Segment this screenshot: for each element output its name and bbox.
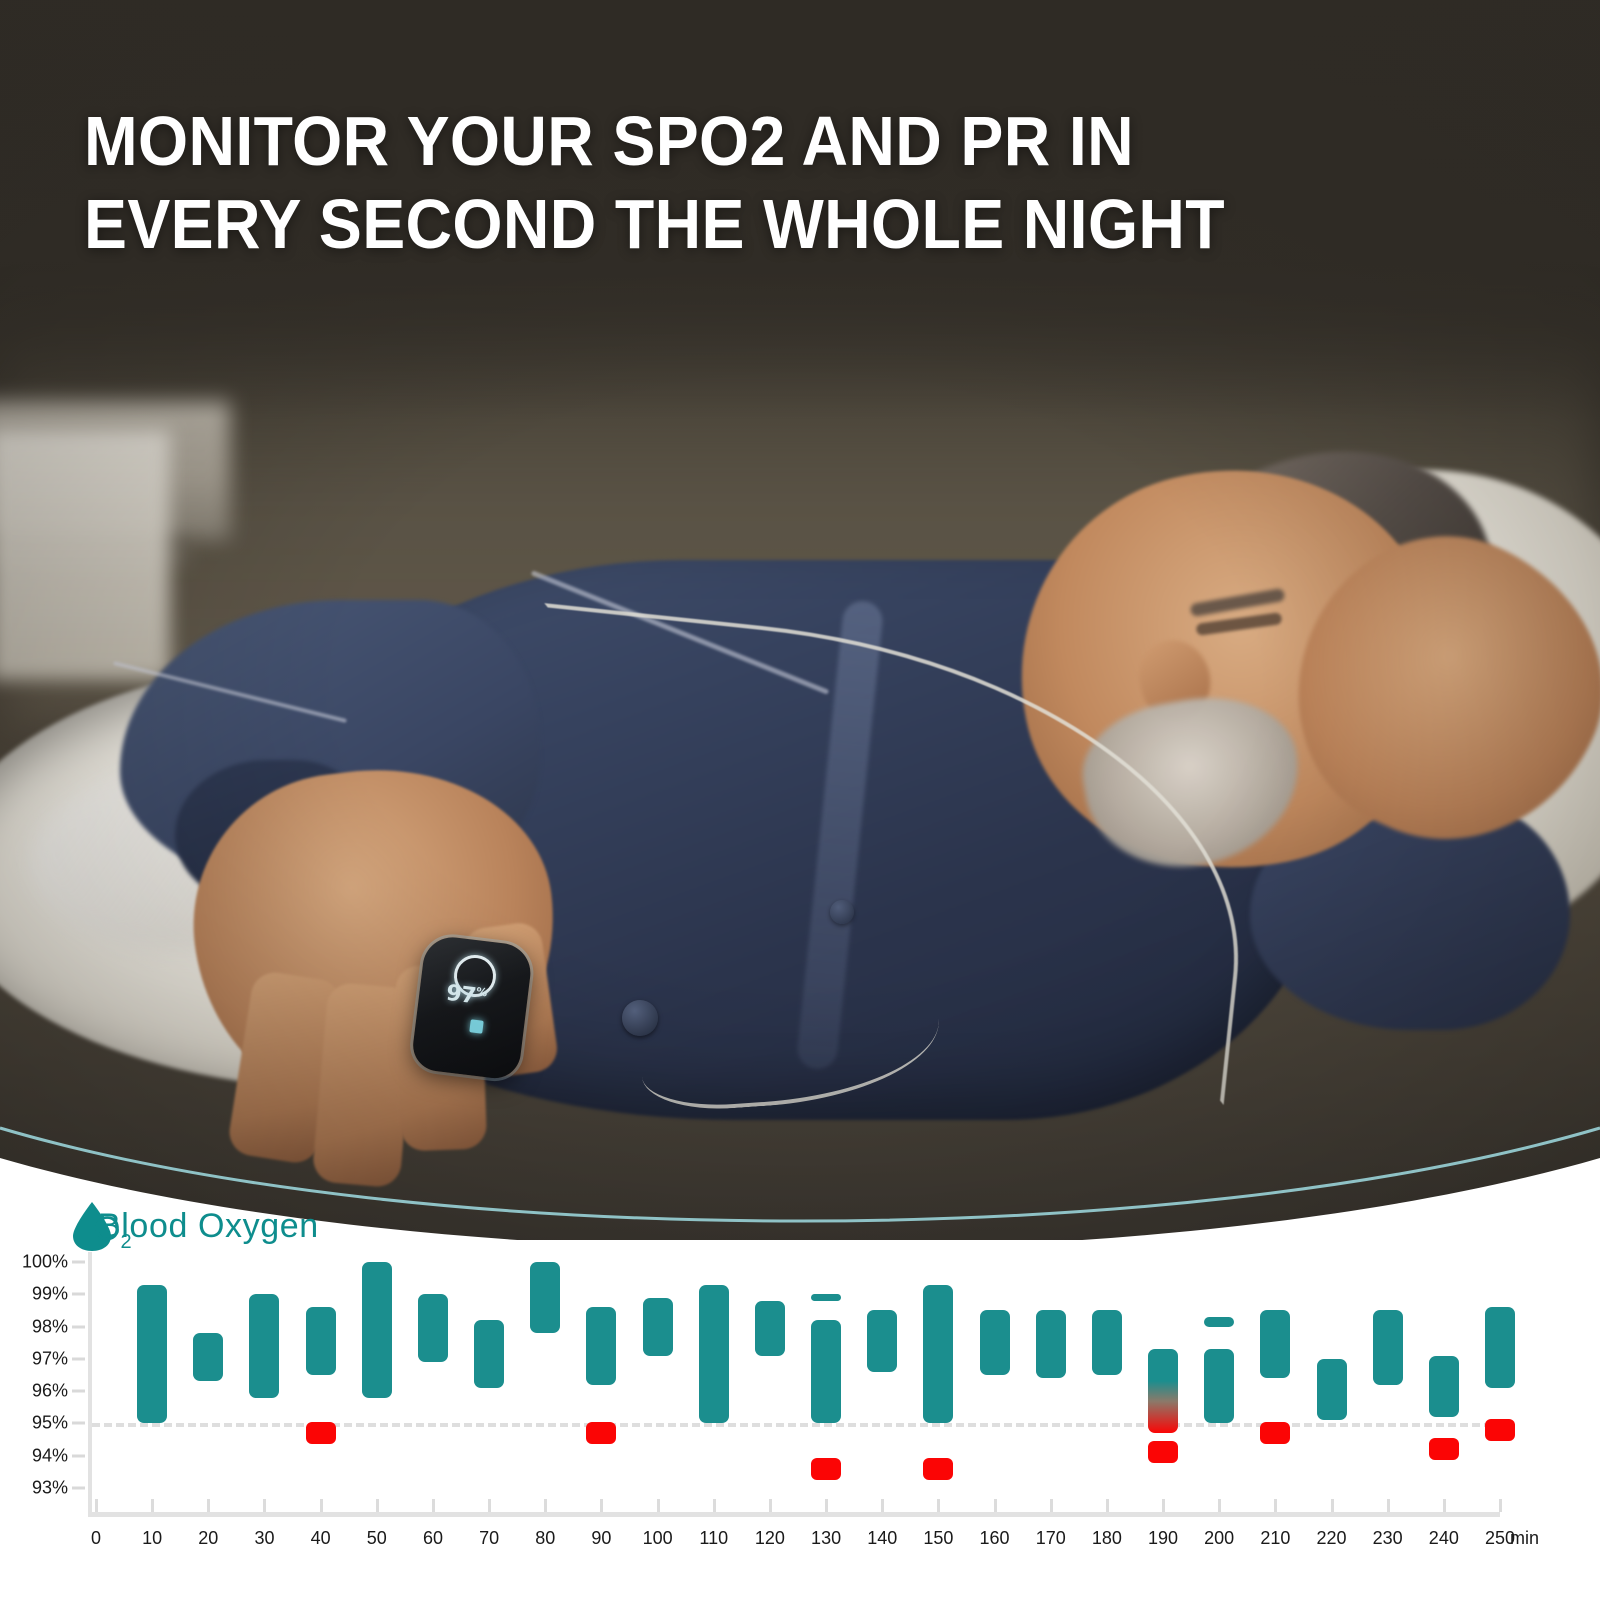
x-axis-tick-label: 210 (1260, 1528, 1290, 1549)
y-axis-tick (72, 1261, 85, 1264)
range-bar (418, 1294, 448, 1362)
x-axis-tick-label: 190 (1148, 1528, 1178, 1549)
x-axis-line (88, 1512, 1500, 1517)
x-axis-tick (1331, 1499, 1334, 1512)
x-axis-tick-label: 90 (591, 1528, 611, 1549)
x-axis-tick-label: 20 (198, 1528, 218, 1549)
x-axis-tick-label: 220 (1316, 1528, 1346, 1549)
x-axis-tick (1499, 1499, 1502, 1512)
range-bar (530, 1262, 560, 1333)
y-axis-tick (72, 1487, 85, 1490)
x-axis-tick (937, 1499, 940, 1512)
x-axis-tick (600, 1499, 603, 1512)
range-bar (137, 1285, 167, 1424)
alert-marker (1148, 1441, 1178, 1463)
x-axis-tick-label: 10 (142, 1528, 162, 1549)
x-axis-tick (1106, 1499, 1109, 1512)
y-axis-tick (72, 1454, 85, 1457)
x-axis-tick-label: 120 (755, 1528, 785, 1549)
range-bar (1148, 1349, 1178, 1433)
headline-line-1: MONITOR YOUR SPO2 AND PR IN (84, 100, 1243, 183)
range-bar (867, 1310, 897, 1371)
range-bar (811, 1320, 841, 1423)
y-axis-tick (72, 1293, 85, 1296)
range-bar (811, 1294, 841, 1300)
x-axis-tick (769, 1499, 772, 1512)
chart-title: O2 Blood Oxygen (70, 1200, 319, 1252)
y-axis-tick (72, 1357, 85, 1360)
range-bar (193, 1333, 223, 1381)
x-axis-tick (825, 1499, 828, 1512)
o2-subscript: 2 (120, 1231, 131, 1253)
x-axis-tick (1162, 1499, 1165, 1512)
x-axis-tick (544, 1499, 547, 1512)
y-axis-tick-label: 96% (32, 1381, 68, 1402)
range-bar (249, 1294, 279, 1397)
x-axis-tick-label: 30 (254, 1528, 274, 1549)
x-axis-tick (432, 1499, 435, 1512)
y-axis-tick-label: 93% (32, 1478, 68, 1499)
x-axis-tick-label: 70 (479, 1528, 499, 1549)
range-bar (643, 1298, 673, 1356)
headline-line-2: EVERY SECOND THE WHOLE NIGHT (84, 183, 1243, 266)
x-axis-tick-label: 100 (643, 1528, 673, 1549)
x-axis-tick (207, 1499, 210, 1512)
range-bar (1204, 1349, 1234, 1423)
x-axis-tick (95, 1499, 98, 1512)
range-bar (1092, 1310, 1122, 1375)
page-title: MONITOR YOUR SPO2 AND PR IN EVERY SECOND… (84, 100, 1243, 265)
x-axis-tick (1050, 1499, 1053, 1512)
x-axis-tick-label: 110 (699, 1528, 728, 1549)
range-bar (474, 1320, 504, 1388)
y-axis-tick-label: 95% (32, 1413, 68, 1434)
x-axis-tick (488, 1499, 491, 1512)
x-axis-tick-label: 130 (811, 1528, 841, 1549)
x-axis-tick (1274, 1499, 1277, 1512)
y-axis-tick-label: 100% (22, 1252, 68, 1273)
x-axis-tick-label: 150 (923, 1528, 953, 1549)
x-axis-tick (320, 1499, 323, 1512)
x-axis-tick (713, 1499, 716, 1512)
y-axis-tick-label: 99% (32, 1284, 68, 1305)
alert-marker (811, 1458, 841, 1480)
range-bar (1373, 1310, 1403, 1384)
range-bar (755, 1301, 785, 1356)
hero-photo: 97% MONITOR YOUR SPO2 AND PR IN EVERY SE… (0, 0, 1600, 1240)
range-bar (1204, 1317, 1234, 1327)
x-axis-tick-label: 140 (867, 1528, 897, 1549)
y-axis-tick (72, 1422, 85, 1425)
x-axis-tick-label: 0 (91, 1528, 101, 1549)
y-axis-line (88, 1252, 92, 1514)
range-bar (586, 1307, 616, 1384)
x-axis-tick (657, 1499, 660, 1512)
x-axis-tick (994, 1499, 997, 1512)
x-axis-tick (881, 1499, 884, 1512)
x-axis-tick (376, 1499, 379, 1512)
chart-plot-area: 100%99%98%97%96%95%94%93% 01020304050607… (0, 1252, 1600, 1542)
alert-marker (586, 1422, 616, 1444)
x-axis-tick-label: 60 (423, 1528, 443, 1549)
x-axis-tick-label: 230 (1373, 1528, 1403, 1549)
x-axis-tick-label: 180 (1092, 1528, 1122, 1549)
x-axis-tick-label: 170 (1036, 1528, 1066, 1549)
y-axis-tick (72, 1390, 85, 1393)
blood-oxygen-chart: O2 Blood Oxygen 100%99%98%97%96%95%94%93… (0, 1180, 1600, 1600)
y-axis-tick-label: 94% (32, 1445, 68, 1466)
x-axis-tick-label: 240 (1429, 1528, 1459, 1549)
x-axis-tick (1443, 1499, 1446, 1512)
alert-marker (923, 1458, 953, 1480)
x-axis-unit-label: min (1510, 1528, 1539, 1549)
alert-marker (1260, 1422, 1290, 1444)
range-bar (1317, 1359, 1347, 1420)
y-axis-tick-label: 98% (32, 1316, 68, 1337)
range-bar (980, 1310, 1010, 1375)
o2-label: O2 (94, 1210, 132, 1254)
x-axis-tick-label: 80 (535, 1528, 555, 1549)
y-axis-tick-label: 97% (32, 1348, 68, 1369)
x-axis-tick-label: 50 (367, 1528, 387, 1549)
x-axis-tick (1218, 1499, 1221, 1512)
range-bar (1036, 1310, 1066, 1378)
range-bar (699, 1285, 729, 1424)
x-axis-tick (263, 1499, 266, 1512)
x-axis-tick-label: 160 (980, 1528, 1010, 1549)
range-bar (923, 1285, 953, 1424)
alert-marker (1429, 1438, 1459, 1460)
x-axis-tick (151, 1499, 154, 1512)
alert-marker (1485, 1419, 1515, 1441)
range-bar (1260, 1310, 1290, 1378)
x-axis-tick-label: 40 (311, 1528, 331, 1549)
range-bar (362, 1262, 392, 1398)
range-bar (306, 1307, 336, 1375)
x-axis-tick-label: 200 (1204, 1528, 1234, 1549)
range-bar (1429, 1356, 1459, 1417)
x-axis-tick (1387, 1499, 1390, 1512)
o2-letter: O (94, 1210, 120, 1248)
alert-marker (306, 1422, 336, 1444)
range-bar (1485, 1307, 1515, 1388)
y-axis-tick (72, 1325, 85, 1328)
